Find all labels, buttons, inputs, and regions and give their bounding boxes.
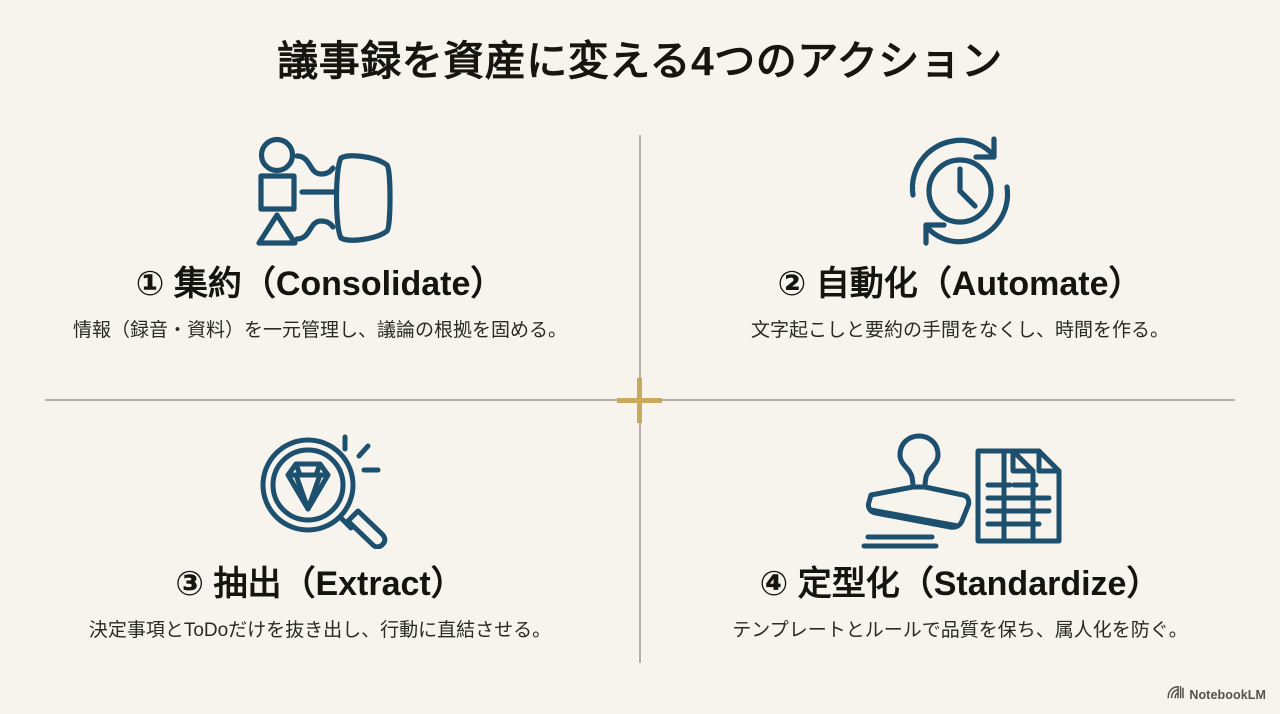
page-title: 議事録を資産に変える4つのアクション bbox=[0, 36, 1280, 87]
funnel-shapes-icon bbox=[20, 132, 620, 250]
quadrant-heading: ① 集約（Consolidate） bbox=[20, 262, 620, 306]
clock-refresh-icon bbox=[660, 132, 1260, 250]
quadrant-consolidate: ① 集約（Consolidate） 情報（録音・資料）を一元管理し、議論の根拠を… bbox=[20, 132, 620, 345]
notebooklm-watermark: NotebookLM bbox=[1167, 685, 1266, 704]
quadrant-extract: ③ 抽出（Extract） 決定事項とToDoだけを抜き出し、行動に直結させる。 bbox=[20, 432, 620, 645]
magnifier-diamond-icon bbox=[20, 432, 620, 550]
stamp-documents-icon bbox=[660, 432, 1260, 550]
notebooklm-spiral-icon bbox=[1167, 685, 1184, 704]
slide-canvas: 議事録を資産に変える4つのアクション ① 集約（Consolidate） 情報（… bbox=[0, 0, 1280, 714]
center-plus-marker bbox=[617, 378, 662, 423]
quadrant-description: 文字起こしと要約の手間をなくし、時間を作る。 bbox=[660, 318, 1260, 345]
quadrant-description: テンプレートとルールで品質を保ち、属人化を防ぐ。 bbox=[660, 618, 1260, 645]
quadrant-description: 情報（録音・資料）を一元管理し、議論の根拠を固める。 bbox=[20, 318, 620, 345]
plus-vertical-bar bbox=[637, 378, 642, 423]
quadrant-description: 決定事項とToDoだけを抜き出し、行動に直結させる。 bbox=[20, 618, 620, 645]
quadrant-automate: ② 自動化（Automate） 文字起こしと要約の手間をなくし、時間を作る。 bbox=[660, 132, 1260, 345]
quadrant-heading: ② 自動化（Automate） bbox=[660, 262, 1260, 306]
quadrant-heading: ④ 定型化（Standardize） bbox=[660, 562, 1260, 606]
quadrant-standardize: ④ 定型化（Standardize） テンプレートとルールで品質を保ち、属人化を… bbox=[660, 432, 1260, 645]
quadrant-heading: ③ 抽出（Extract） bbox=[20, 562, 620, 606]
watermark-label: NotebookLM bbox=[1189, 688, 1266, 702]
